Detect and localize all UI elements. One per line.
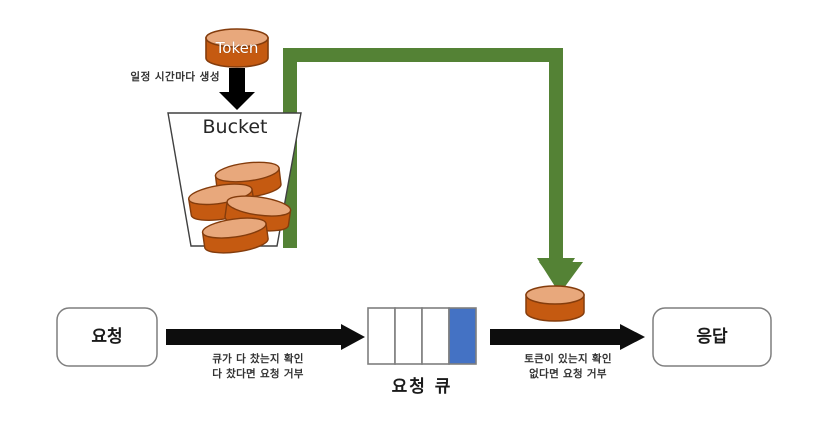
request-box-label: 요청 xyxy=(57,327,157,348)
bucket-label: Bucket xyxy=(170,116,300,140)
queue-cell-filled xyxy=(449,308,476,364)
token-check-note-line1: 토큰이 있는지 확인 xyxy=(503,353,633,366)
queue-to-response-arrow xyxy=(490,324,645,350)
request-queue-label: 요청 큐 xyxy=(368,377,476,398)
diagram-svg xyxy=(0,0,828,428)
token-check-note-line2: 없다면 요청 거부 xyxy=(503,368,633,381)
queue-full-check-note-line1: 큐가 다 찼는지 확인 xyxy=(193,353,323,366)
token-source-label: Token xyxy=(206,39,268,58)
queue-cell xyxy=(368,308,395,364)
queue-full-check-note-line2: 다 찼다면 요청 거부 xyxy=(193,368,323,381)
request-to-queue-arrow xyxy=(166,324,365,350)
gate-token-cylinder xyxy=(526,286,584,321)
response-box-label: 응답 xyxy=(653,327,771,348)
token-refill-green-arrow xyxy=(283,48,583,292)
request-queue xyxy=(368,308,476,364)
queue-cell xyxy=(422,308,449,364)
token-generation-arrow xyxy=(219,68,255,110)
queue-cell xyxy=(395,308,422,364)
token-generation-note: 일정 시간마다 생성 xyxy=(108,71,220,84)
diagram-canvas: Token 일정 시간마다 생성 Bucket 요청 응답 요청 큐 큐가 다 … xyxy=(0,0,828,428)
